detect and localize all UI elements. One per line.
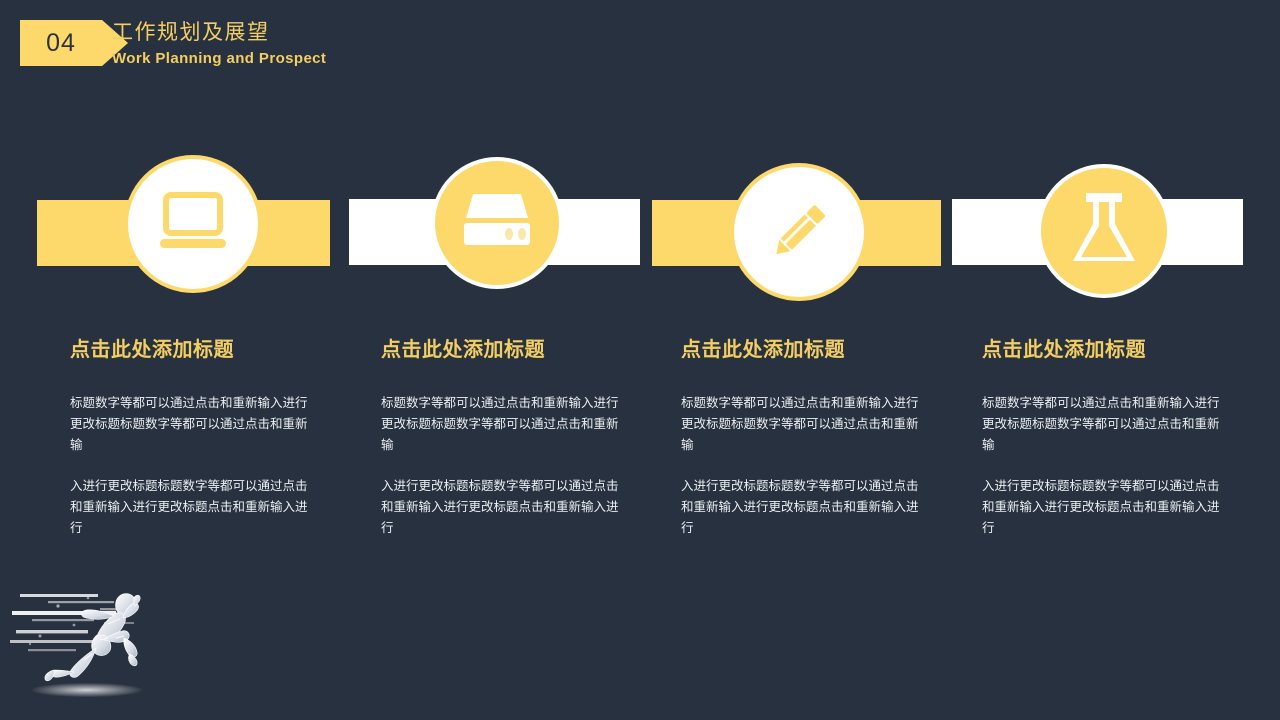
column-title-2: 点击此处添加标题 bbox=[381, 336, 625, 362]
icon-circle-background-3 bbox=[730, 163, 868, 301]
column-title-4: 点击此处添加标题 bbox=[982, 336, 1226, 362]
runner-decoration bbox=[4, 578, 174, 708]
scanner-icon bbox=[460, 192, 534, 255]
column-title-3: 点击此处添加标题 bbox=[681, 336, 925, 362]
content-column-2: 点击此处添加标题 标题数字等都可以通过点击和重新输入进行更改标题标题数字等都可以… bbox=[381, 336, 625, 538]
content-column-4: 点击此处添加标题 标题数字等都可以通过点击和重新输入进行更改标题标题数字等都可以… bbox=[982, 336, 1226, 538]
column-paragraph-2b: 入进行更改标题标题数字等都可以通过点击和重新输入进行更改标题点击和重新输入进行 bbox=[381, 475, 625, 538]
runner-shadow-ellipse bbox=[32, 683, 142, 697]
content-column-1: 点击此处添加标题 标题数字等都可以通过点击和重新输入进行更改标题标题数字等都可以… bbox=[70, 336, 314, 538]
laptop-icon bbox=[155, 191, 231, 258]
flask-icon bbox=[1068, 191, 1140, 272]
column-title-1: 点击此处添加标题 bbox=[70, 336, 314, 362]
column-paragraph-2a: 标题数字等都可以通过点击和重新输入进行更改标题标题数字等都可以通过点击和重新输 bbox=[381, 392, 625, 455]
icon-circle-background-1 bbox=[124, 155, 262, 293]
pencil-icon bbox=[764, 195, 834, 270]
icon-circle-background-4 bbox=[1037, 164, 1171, 298]
icon-band-row bbox=[0, 0, 1280, 320]
icon-circle-background-2 bbox=[431, 157, 563, 289]
column-paragraph-1b: 入进行更改标题标题数字等都可以通过点击和重新输入进行更改标题点击和重新输入进行 bbox=[70, 475, 314, 538]
column-paragraph-4b: 入进行更改标题标题数字等都可以通过点击和重新输入进行更改标题点击和重新输入进行 bbox=[982, 475, 1226, 538]
content-column-3: 点击此处添加标题 标题数字等都可以通过点击和重新输入进行更改标题标题数字等都可以… bbox=[681, 336, 925, 538]
column-paragraph-3a: 标题数字等都可以通过点击和重新输入进行更改标题标题数字等都可以通过点击和重新输 bbox=[681, 392, 925, 455]
column-paragraph-4a: 标题数字等都可以通过点击和重新输入进行更改标题标题数字等都可以通过点击和重新输 bbox=[982, 392, 1226, 455]
content-columns: 点击此处添加标题 标题数字等都可以通过点击和重新输入进行更改标题标题数字等都可以… bbox=[0, 336, 1280, 596]
column-paragraph-3b: 入进行更改标题标题数字等都可以通过点击和重新输入进行更改标题点击和重新输入进行 bbox=[681, 475, 925, 538]
column-paragraph-1a: 标题数字等都可以通过点击和重新输入进行更改标题标题数字等都可以通过点击和重新输 bbox=[70, 392, 314, 455]
